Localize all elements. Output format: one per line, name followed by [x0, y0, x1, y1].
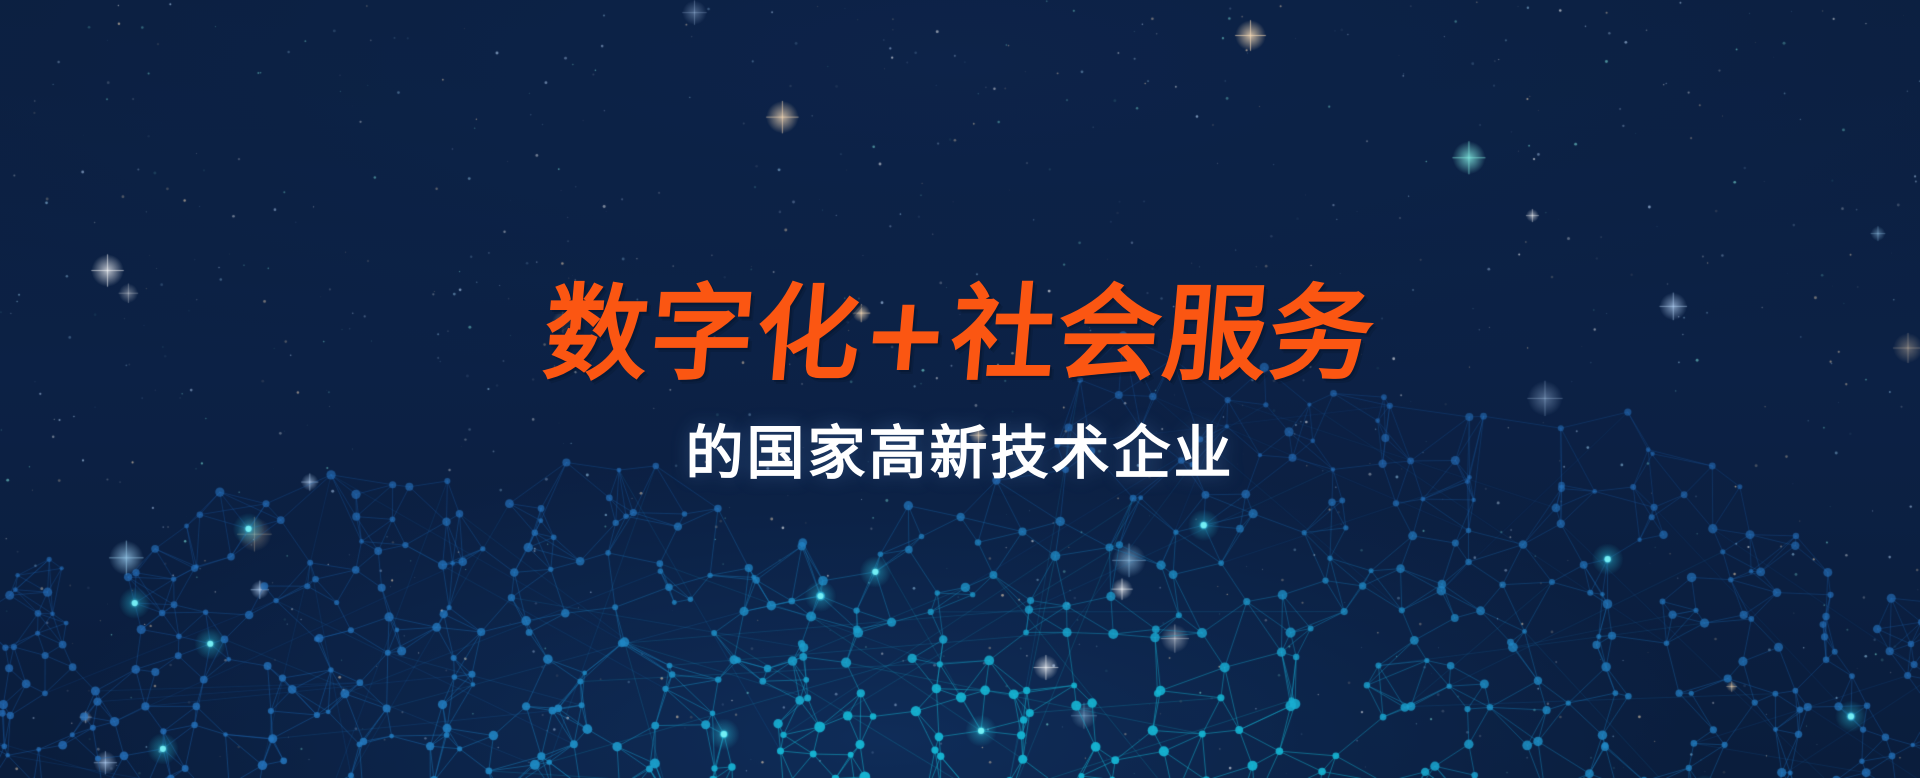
banner-headline: 数字化+社会服务 [0, 282, 1920, 386]
hero-banner: 数字化+社会服务 的国家高新技术企业 [0, 0, 1920, 778]
banner-subtitle: 的国家高新技术企业 [0, 424, 1920, 482]
